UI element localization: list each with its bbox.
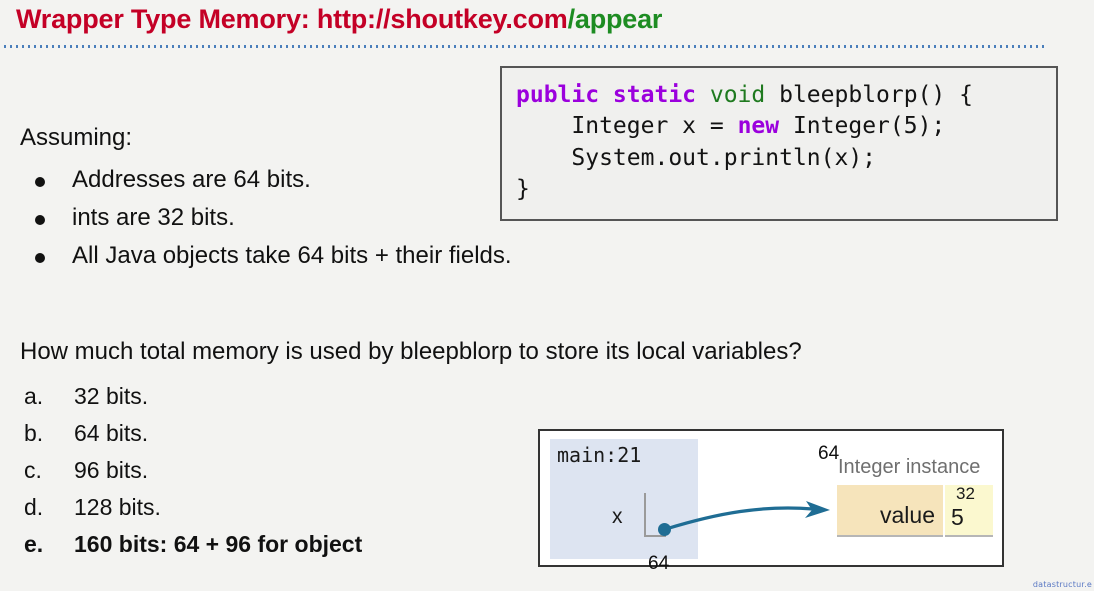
code-line3: System.out.println(x); <box>516 145 876 171</box>
option-text: 64 bits. <box>74 420 148 446</box>
page-title-url-prefix: Wrapper Type Memory: http://shoutkey.com <box>16 4 568 34</box>
assuming-label: Assuming: <box>20 124 132 152</box>
code-keyword-new: new <box>738 113 780 139</box>
option-text: 96 bits. <box>74 457 148 483</box>
page-title-url-suffix: /appear <box>568 4 663 34</box>
option-letter: a. <box>24 385 43 408</box>
assumptions-list: Addresses are 64 bits. ints are 32 bits.… <box>20 168 512 282</box>
assumption-text: ints are 32 bits. <box>72 204 235 231</box>
answer-option-c[interactable]: c.96 bits. <box>18 459 362 482</box>
object-field-value: 5 <box>951 504 964 531</box>
answer-option-a[interactable]: a.32 bits. <box>18 385 362 408</box>
variable-label-x: x <box>612 505 623 529</box>
page-title: Wrapper Type Memory: http://shoutkey.com… <box>16 4 662 35</box>
code-text: public static void bleepblorp() { Intege… <box>502 68 1056 205</box>
bullet-icon <box>35 177 45 187</box>
list-item: All Java objects take 64 bits + their fi… <box>20 244 512 268</box>
code-line2-rest: Integer(5); <box>779 113 945 139</box>
option-letter: d. <box>24 496 43 519</box>
integer-instance-label: Integer instance <box>838 456 980 479</box>
assumption-text: All Java objects take 64 bits + their fi… <box>72 242 512 269</box>
code-line2-pre: Integer x = <box>516 113 738 139</box>
question-text: How much total memory is used by bleepbl… <box>20 338 802 366</box>
reference-arrow-icon <box>658 483 848 543</box>
assumption-text: Addresses are 64 bits. <box>72 166 311 193</box>
object-size-label: 64 <box>818 443 839 465</box>
option-letter: b. <box>24 422 43 445</box>
list-item: ints are 32 bits. <box>20 206 512 230</box>
memory-diagram: main:21 x 64 64 Integer instance value 3… <box>538 429 1004 567</box>
option-letter: e. <box>24 533 43 556</box>
bullet-icon <box>35 215 45 225</box>
code-type-void: void <box>696 82 765 108</box>
answer-option-b[interactable]: b.64 bits. <box>18 422 362 445</box>
bullet-icon <box>35 253 45 263</box>
field-size-label: 32 <box>956 484 975 504</box>
code-keyword-public-static: public static <box>516 82 696 108</box>
object-field-value-cell: 32 5 <box>945 485 993 537</box>
code-block: public static void bleepblorp() { Intege… <box>500 66 1058 221</box>
watermark: datastructur.e <box>1033 580 1092 589</box>
option-text: 32 bits. <box>74 383 148 409</box>
option-text: 160 bits: 64 + 96 for object <box>74 531 362 557</box>
object-field-name: value <box>880 502 935 529</box>
option-letter: c. <box>24 459 42 482</box>
stack-frame-title: main:21 <box>557 443 641 467</box>
code-signature-rest: bleepblorp() { <box>765 82 973 108</box>
option-text: 128 bits. <box>74 494 161 520</box>
code-line4: } <box>516 176 530 202</box>
list-item: Addresses are 64 bits. <box>20 168 512 192</box>
pointer-size-label: 64 <box>648 553 669 575</box>
object-field-name-cell: value <box>837 485 943 537</box>
answer-options-list: a.32 bits. b.64 bits. c.96 bits. d.128 b… <box>18 385 362 570</box>
title-divider <box>4 45 1044 48</box>
answer-option-e[interactable]: e.160 bits: 64 + 96 for object <box>18 533 362 556</box>
answer-option-d[interactable]: d.128 bits. <box>18 496 362 519</box>
